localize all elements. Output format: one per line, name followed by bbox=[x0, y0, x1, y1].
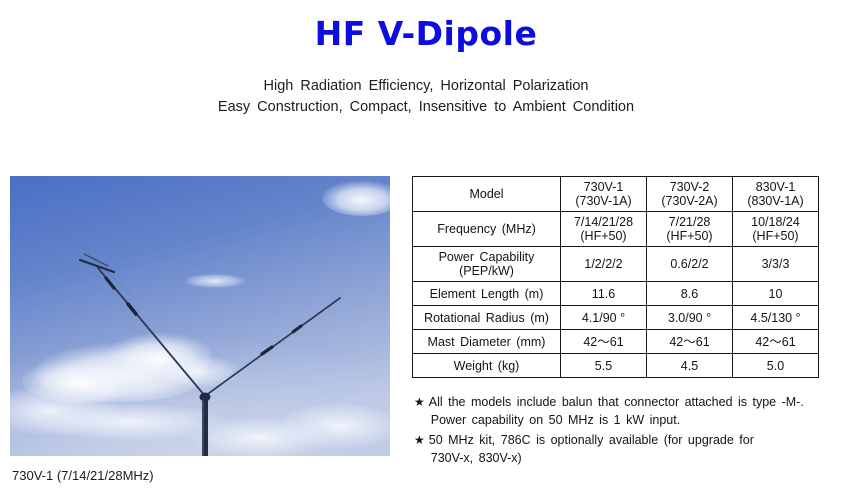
row-value: 10/18/24 (HF+50) bbox=[733, 212, 819, 247]
table-row: Frequency (MHz) 7/14/21/28 (HF+50) 7/21/… bbox=[413, 212, 819, 247]
note-line: 730V-x, 830V-x) bbox=[429, 450, 838, 468]
row-value: 42～61 bbox=[561, 330, 647, 354]
row-label: Rotational Radius (m) bbox=[413, 306, 561, 330]
specification-table: Model 730V-1 (730V-1A) 730V-2 (730V-2A) … bbox=[412, 176, 819, 378]
subtitle-block: High Radiation Efficiency, Horizontal Po… bbox=[0, 76, 852, 118]
row-value: 11.6 bbox=[561, 282, 647, 306]
note-line: Power capability on 50 MHz is 1 kW input… bbox=[429, 412, 838, 430]
product-photo bbox=[10, 176, 390, 456]
row-label: Frequency (MHz) bbox=[413, 212, 561, 247]
star-icon: ★ bbox=[414, 394, 425, 412]
note-line: 50 MHz kit, 786C is optionally available… bbox=[429, 433, 754, 447]
row-value: 3.0/90 ° bbox=[647, 306, 733, 330]
table-header-col-1: 730V-1 (730V-1A) bbox=[561, 177, 647, 212]
star-icon: ★ bbox=[414, 432, 425, 450]
row-value: 8.6 bbox=[647, 282, 733, 306]
row-label: Element Length (m) bbox=[413, 282, 561, 306]
table-row: Mast Diameter (mm) 42～61 42～61 42～61 bbox=[413, 330, 819, 354]
row-value: 10 bbox=[733, 282, 819, 306]
subtitle-line-1: High Radiation Efficiency, Horizontal Po… bbox=[0, 76, 852, 97]
notes-block: ★ All the models include balun that conn… bbox=[414, 394, 838, 470]
row-label: Weight (kg) bbox=[413, 354, 561, 378]
row-label: Mast Diameter (mm) bbox=[413, 330, 561, 354]
row-value: 42～61 bbox=[647, 330, 733, 354]
table-header-model: Model bbox=[413, 177, 561, 212]
table-row: Rotational Radius (m) 4.1/90 ° 3.0/90 ° … bbox=[413, 306, 819, 330]
row-value: 7/14/21/28 (HF+50) bbox=[561, 212, 647, 247]
note-text: All the models include balun that connec… bbox=[429, 394, 838, 429]
row-value: 4.5/130 ° bbox=[733, 306, 819, 330]
table-row: Element Length (m) 11.6 8.6 10 bbox=[413, 282, 819, 306]
row-value: 3/3/3 bbox=[733, 247, 819, 282]
row-value: 5.5 bbox=[561, 354, 647, 378]
note-text: 50 MHz kit, 786C is optionally available… bbox=[429, 432, 838, 467]
row-value: 5.0 bbox=[733, 354, 819, 378]
row-value: 4.5 bbox=[647, 354, 733, 378]
row-value: 0.6/2/2 bbox=[647, 247, 733, 282]
table-header-col-2: 730V-2 (730V-2A) bbox=[647, 177, 733, 212]
page-title: HF V-Dipole bbox=[0, 14, 852, 53]
row-value: 42～61 bbox=[733, 330, 819, 354]
row-value: 7/21/28 (HF+50) bbox=[647, 212, 733, 247]
row-label: Power Capability (PEP/kW) bbox=[413, 247, 561, 282]
subtitle-line-2: Easy Construction, Compact, Insensitive … bbox=[0, 97, 852, 118]
note-item: ★ All the models include balun that conn… bbox=[414, 394, 838, 429]
photo-caption: 730V-1 (7/14/21/28MHz) bbox=[12, 468, 154, 483]
note-item: ★ 50 MHz kit, 786C is optionally availab… bbox=[414, 432, 838, 467]
table-header-row: Model 730V-1 (730V-1A) 730V-2 (730V-2A) … bbox=[413, 177, 819, 212]
row-value: 1/2/2/2 bbox=[561, 247, 647, 282]
note-line: All the models include balun that connec… bbox=[429, 395, 804, 409]
table-row: Weight (kg) 5.5 4.5 5.0 bbox=[413, 354, 819, 378]
row-value: 4.1/90 ° bbox=[561, 306, 647, 330]
table-header-col-3: 830V-1 (830V-1A) bbox=[733, 177, 819, 212]
antenna-photo-graphic bbox=[10, 176, 390, 456]
table-row: Power Capability (PEP/kW) 1/2/2/2 0.6/2/… bbox=[413, 247, 819, 282]
